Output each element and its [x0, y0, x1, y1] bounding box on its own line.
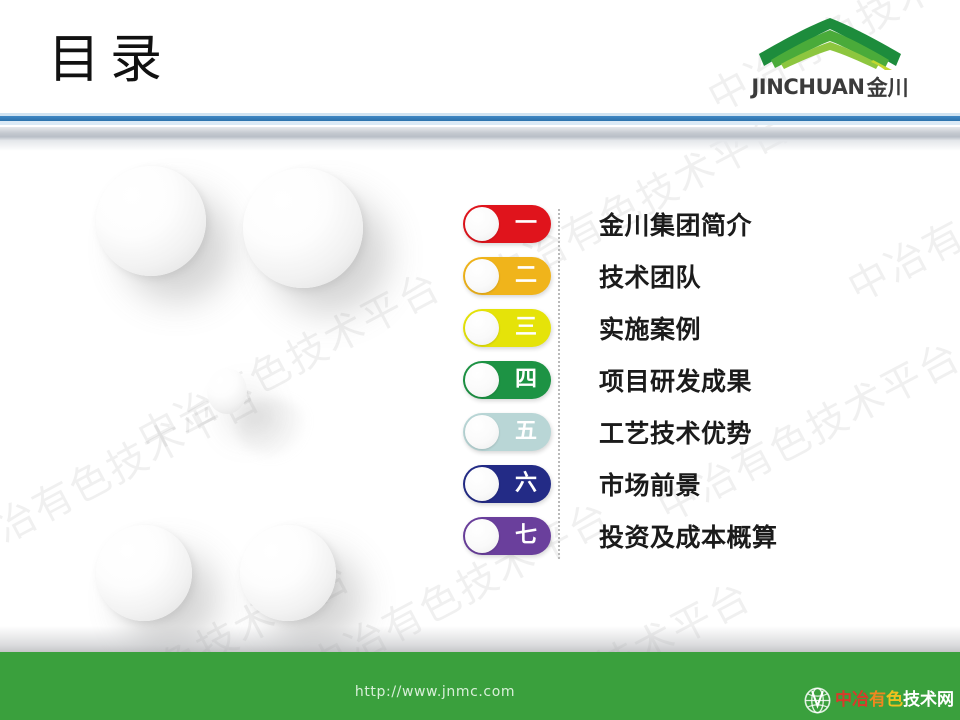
site-watermark-char: 有 [869, 690, 886, 710]
badge-knob-circle [465, 363, 499, 397]
toc-number-label: 四 [501, 361, 551, 399]
toc-number-badge[interactable]: 七 [463, 517, 551, 555]
toc-item[interactable]: 七投资及成本概算 [463, 517, 933, 555]
toc-number-label: 一 [501, 205, 551, 243]
sphere-decoration [243, 168, 363, 288]
toc-item-label: 实施案例 [599, 310, 701, 346]
toc-item[interactable]: 三实施案例 [463, 309, 933, 347]
header-rule-gray [0, 127, 960, 141]
toc-item[interactable]: 四项目研发成果 [463, 361, 933, 399]
toc-item-label: 工艺技术优势 [599, 414, 752, 450]
header-rule-gray-fade [0, 141, 960, 151]
sphere-decoration [96, 166, 206, 276]
toc-number-label: 五 [501, 413, 551, 451]
badge-knob-circle [465, 311, 499, 345]
toc-number-label: 六 [501, 465, 551, 503]
toc-number-badge[interactable]: 一 [463, 205, 551, 243]
sphere-decoration [96, 525, 192, 621]
toc-item-label: 金川集团简介 [599, 206, 752, 242]
site-watermark-char: 中 [835, 690, 852, 710]
toc-item[interactable]: 五工艺技术优势 [463, 413, 933, 451]
toc-number-badge[interactable]: 五 [463, 413, 551, 451]
background-watermark: 中冶有色技术平台 [126, 255, 450, 464]
logo-chinese-text: 金川 [867, 72, 909, 102]
toc-number-badge[interactable]: 二 [463, 257, 551, 295]
sphere-shadow-blob [237, 398, 309, 458]
site-watermark-char: 冶 [852, 690, 869, 710]
sphere-decoration [207, 368, 247, 414]
toc-item-label: 市场前景 [599, 466, 701, 502]
jinchuan-logo: JINCHUAN 金川 [742, 16, 918, 104]
toc-dotted-divider [558, 209, 560, 559]
toc-item[interactable]: 六市场前景 [463, 465, 933, 503]
site-watermark-char: 技 [903, 690, 920, 710]
site-watermark-char: 色 [886, 690, 903, 710]
toc-item-label: 项目研发成果 [599, 362, 752, 398]
toc-number-badge[interactable]: 三 [463, 309, 551, 347]
site-watermark-text: 中冶有色技术网 [835, 692, 954, 709]
background-watermark: 中冶有色技术平台 [0, 365, 270, 574]
globe-icon [804, 687, 831, 714]
site-watermark-char: 网 [937, 690, 954, 710]
badge-knob-circle [465, 415, 499, 449]
slide-root: 中冶有色技术平台 中冶有色技术平台 中冶有色技术平台 中冶有色技术平台 中冶有色… [0, 0, 960, 720]
jinchuan-mountain-icon [755, 16, 905, 70]
toc-item-label: 投资及成本概算 [599, 518, 778, 554]
badge-knob-circle [465, 207, 499, 241]
toc-number-badge[interactable]: 四 [463, 361, 551, 399]
header-rule-light-bottom [0, 121, 960, 125]
toc-item[interactable]: 一金川集团简介 [463, 205, 933, 243]
badge-knob-circle [465, 519, 499, 553]
toc-list: 一金川集团简介二技术团队三实施案例四项目研发成果五工艺技术优势六市场前景七投资及… [463, 205, 933, 569]
toc-number-label: 七 [501, 517, 551, 555]
toc-number-label: 二 [501, 257, 551, 295]
toc-number-label: 三 [501, 309, 551, 347]
logo-latin-text: JINCHUAN [751, 75, 864, 99]
toc-number-badge[interactable]: 六 [463, 465, 551, 503]
footer-shadow [0, 626, 960, 652]
slide-header: 目录 JINCHUAN 金川 [0, 0, 960, 118]
site-watermark-char: 术 [920, 690, 937, 710]
page-title: 目录 [48, 34, 172, 86]
header-rule-blue [0, 116, 960, 121]
site-watermark: 中冶有色技术网 [804, 687, 954, 714]
toc-item[interactable]: 二技术团队 [463, 257, 933, 295]
sphere-decoration [240, 525, 336, 621]
badge-knob-circle [465, 467, 499, 501]
toc-item-label: 技术团队 [599, 258, 701, 294]
logo-wordmark: JINCHUAN 金川 [742, 72, 918, 102]
badge-knob-circle [465, 259, 499, 293]
